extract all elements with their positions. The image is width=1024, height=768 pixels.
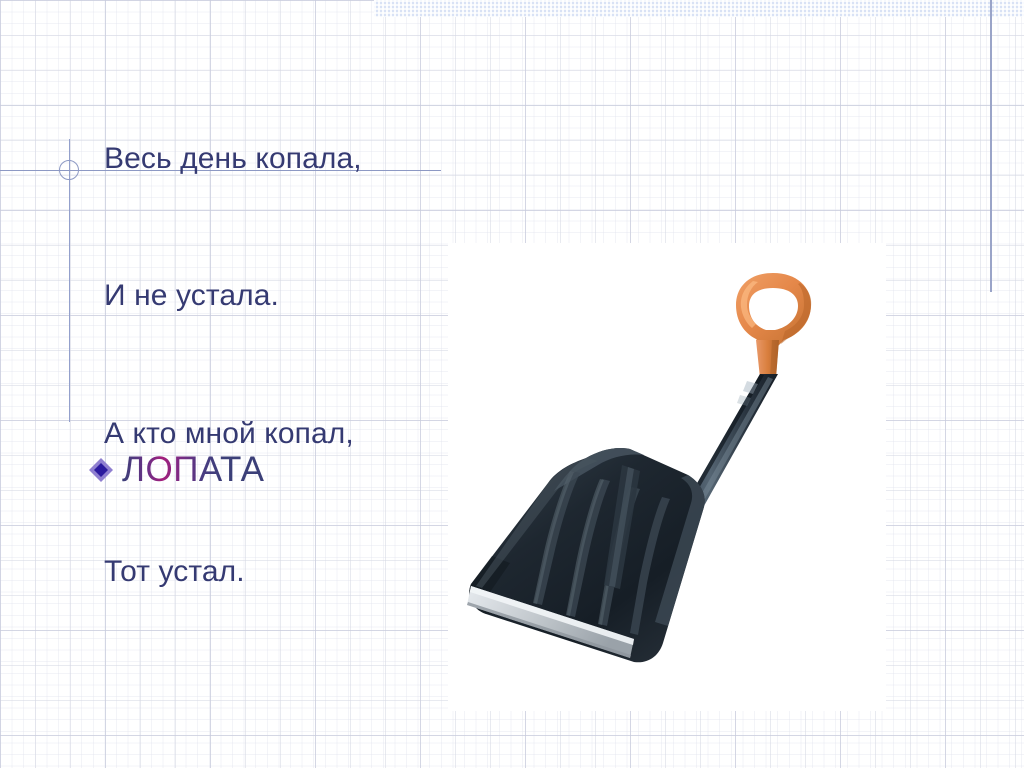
riddle-line-4: Тот устал. — [104, 549, 504, 595]
riddle-line-2: И не устала. — [104, 273, 504, 319]
answer-label: ЛОПАТА — [122, 452, 265, 487]
top-decorative-band — [374, 0, 1024, 17]
accent-circle-marker — [59, 160, 79, 180]
right-vertical-accent-line — [990, 0, 992, 292]
riddle-text-block: Весь день копала, И не устала. А кто мно… — [104, 44, 504, 686]
answer-row: ЛОПАТА — [88, 452, 265, 487]
riddle-line-1: Весь день копала, — [104, 136, 504, 182]
left-vertical-accent-line — [69, 139, 70, 422]
slide-canvas: Весь день копала, И не устала. А кто мно… — [0, 0, 1024, 768]
shovel-photo — [448, 243, 886, 711]
diamond-bullet-icon — [88, 457, 114, 483]
